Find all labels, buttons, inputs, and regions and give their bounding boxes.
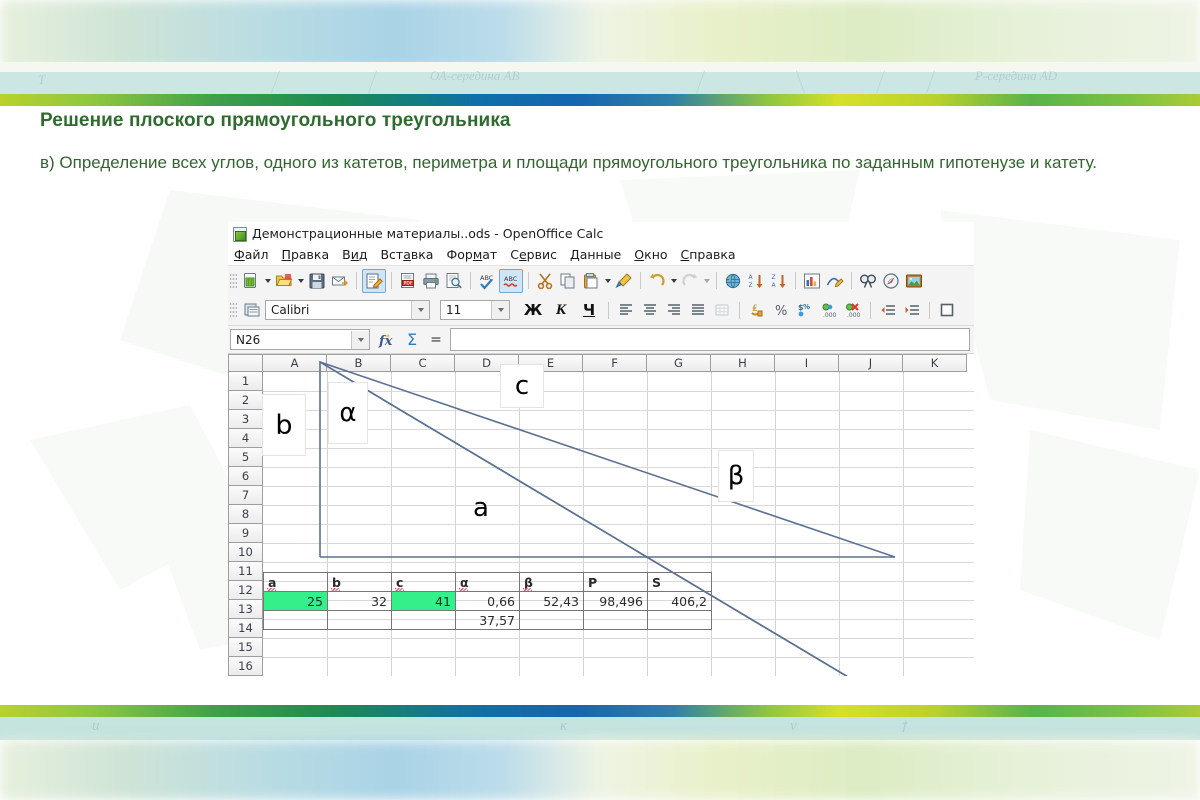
menu-item-insert[interactable]: Вставка [380,247,433,262]
align-left-icon[interactable] [615,299,637,321]
row-header-2[interactable]: 2 [228,391,263,410]
equals-icon[interactable]: = [427,329,445,351]
delete-decimal-icon[interactable]: .000 [842,299,864,321]
grid-hline [263,638,974,639]
top-color-band [0,94,1200,106]
header-c[interactable]: c [392,573,456,592]
angle-alpha-label: α [328,382,368,444]
cell-S-value[interactable]: 406,2 [648,592,712,611]
function-wizard-icon[interactable]: fx [375,329,397,351]
toolbar-grip[interactable] [230,272,237,290]
menu-item-tools[interactable]: Сервис [510,247,557,262]
print-icon[interactable] [420,270,442,292]
paste-icon[interactable] [580,270,602,292]
cell-r15-c[interactable] [392,611,456,630]
font-size-combo[interactable]: 11 [440,300,510,320]
chart-icon[interactable] [801,270,823,292]
column-header-A[interactable]: A [263,354,327,372]
grid-hline [263,448,974,449]
page-title: Решение плоского прямоугольного треуголь… [40,110,511,132]
svg-text:ABC: ABC [504,275,518,283]
spellcheck-icon[interactable]: ABC [476,270,498,292]
bg-scribble-mark-3: ᴋ [560,718,567,735]
row-header-16[interactable]: 16 [228,657,263,676]
svg-text:.000: .000 [823,312,837,318]
calc-menubar: Файл Правка Вид Вставка Формат Сервис Да… [228,244,974,265]
bold-button[interactable]: Ж [520,299,546,321]
cut-icon[interactable] [534,270,556,292]
cell-a-value[interactable]: 25 [264,592,328,611]
spreadsheet-grid[interactable]: ABCDEFGHIJK 12345678910111213141516 b α … [228,354,974,676]
cell-r15-b[interactable] [328,611,392,630]
cell-r15-g[interactable] [648,611,712,630]
cell-r15-a[interactable] [264,611,328,630]
svg-text:A: A [749,274,754,281]
draw-functions-icon[interactable] [824,270,846,292]
table-header-row: a b c α β P S [264,573,712,592]
add-decimal-icon[interactable]: .000 [818,299,840,321]
autospellcheck-icon[interactable]: ABC [499,269,523,293]
row-header-13[interactable]: 13 [228,600,263,619]
row-header-4[interactable]: 4 [228,429,263,448]
menu-item-file[interactable]: Файл [234,247,269,262]
calc-document-icon [231,226,246,241]
formula-input-line[interactable] [450,328,970,351]
decrease-indent-icon[interactable] [877,299,899,321]
svg-text:A: A [772,282,777,289]
svg-text:fx: fx [378,334,393,349]
underline-button[interactable]: Ч [576,299,602,321]
copy-icon[interactable] [557,270,579,292]
bg-scribble-mark-1: Ƭ [38,72,45,88]
hyperlink-icon[interactable] [722,270,744,292]
menu-item-edit[interactable]: Правка [282,247,330,262]
cell-P-value[interactable]: 98,496 [584,592,648,611]
page-subtitle: в) Определение всех углов, одного из кат… [40,150,1150,175]
grid-hline [263,524,974,525]
grid-hline [263,562,974,563]
grid-hline [263,429,974,430]
row-header-8[interactable]: 8 [228,505,263,524]
column-header-F[interactable]: F [583,354,647,372]
svg-text:Z: Z [749,282,753,289]
row-header-15[interactable]: 15 [228,638,263,657]
font-size-dropdown-icon[interactable] [491,301,509,319]
svg-text:%: % [775,304,787,318]
cell-r15-f[interactable] [584,611,648,630]
sort-ascending-icon[interactable]: AZ [745,270,767,292]
cell-beta-value[interactable]: 52,43 [520,592,584,611]
top-gradient-blur [0,0,1200,70]
name-box-dropdown-icon[interactable] [351,331,369,349]
column-header-I[interactable]: I [775,354,839,372]
find-replace-icon[interactable] [857,270,879,292]
menu-item-data[interactable]: Данные [570,247,621,262]
save-icon[interactable] [306,270,328,292]
column-header-C[interactable]: C [391,354,455,372]
cell-c-value[interactable]: 41 [392,592,456,611]
formatting-toolbar-grip[interactable] [230,301,237,319]
italic-button[interactable]: К [548,299,574,321]
table-row: 37,57 [264,611,712,630]
font-name-value: Calibri [271,303,309,317]
undo-dropdown-icon[interactable] [669,270,678,292]
row-header-5[interactable]: 5 [228,448,263,467]
navigator-icon[interactable] [880,270,902,292]
merge-cells-icon[interactable] [711,299,733,321]
menu-item-format[interactable]: Формат [446,247,497,262]
currency-icon[interactable]: ₤ [746,299,768,321]
header-alpha[interactable]: α [456,573,520,592]
redo-icon[interactable] [679,270,701,292]
side-b-label: b [262,394,306,456]
column-header-K[interactable]: K [903,354,967,372]
print-preview-icon[interactable] [443,270,465,292]
row-header-10[interactable]: 10 [228,543,263,562]
svg-text:.000: .000 [847,312,861,318]
borders-icon[interactable] [936,299,958,321]
align-justify-icon[interactable] [687,299,709,321]
row-header-7[interactable]: 7 [228,486,263,505]
header-S[interactable]: S [648,573,712,592]
paste-dropdown-icon[interactable] [603,270,612,292]
redo-dropdown-icon[interactable] [702,270,711,292]
grid-hline [263,467,974,468]
menu-item-window[interactable]: Окно [634,247,667,262]
cell-b-value[interactable]: 32 [328,592,392,611]
open-document-icon[interactable] [273,270,295,292]
svg-text:PDF: PDF [404,280,413,286]
bg-scribble-text-2: P-середина AD [975,68,1057,84]
styles-and-formatting-icon[interactable] [241,299,263,321]
new-document-dropdown-icon[interactable] [263,270,272,292]
align-right-icon[interactable] [663,299,685,321]
grid-hline [263,543,974,544]
grid-hline [263,410,974,411]
font-name-combo[interactable]: Calibri [265,300,430,320]
formula-bar: N26 fx Σ = [228,326,974,354]
bottom-gradient-blur [0,740,1200,800]
openoffice-calc-window: Демонстрационные материалы..ods - OpenOf… [228,222,974,695]
open-document-dropdown-icon[interactable] [296,270,305,292]
header-beta[interactable]: β [520,573,584,592]
column-header-H[interactable]: H [711,354,775,372]
side-c-label: c [500,364,544,408]
increase-indent-icon[interactable] [901,299,923,321]
row-header-12[interactable]: 12 [228,581,263,600]
table-row: 25 32 41 0,66 52,43 98,496 406,2 [264,592,712,611]
row-header-9[interactable]: 9 [228,524,263,543]
grid-hline [263,505,974,506]
bg-scribble-mark-5: ꝉ [900,718,906,737]
email-document-icon[interactable] [329,270,351,292]
results-table[interactable]: a b c α β P S 25 32 41 0,66 52,43 98,496… [263,572,712,630]
menu-item-help[interactable]: Справка [681,247,736,262]
new-document-icon[interactable] [240,270,262,292]
column-header-B[interactable]: B [327,354,391,372]
svg-text:%: % [803,303,810,311]
bg-scribble-text-1: ОА-середина АВ [430,68,520,84]
row-header-3[interactable]: 3 [228,410,263,429]
column-header-J[interactable]: J [839,354,903,372]
cell-r15-e[interactable] [520,611,584,630]
sum-icon[interactable]: Σ [402,329,422,351]
percent-icon[interactable]: % [770,299,792,321]
bottom-color-band [0,705,1200,717]
svg-text:Z: Z [772,274,776,281]
header-P[interactable]: P [584,573,648,592]
gallery-icon[interactable] [903,270,925,292]
header-a[interactable]: a [264,573,328,592]
sort-descending-icon[interactable]: ZA [768,270,790,292]
name-box[interactable]: N26 [230,329,370,350]
row-header-6[interactable]: 6 [228,467,263,486]
clone-formatting-icon[interactable] [613,270,635,292]
number-format-icon[interactable]: $% [794,299,816,321]
bg-scribble-mark-4: ᴠ [790,718,796,735]
row-header-11[interactable]: 11 [228,562,263,581]
grid-hline [263,391,974,392]
export-pdf-icon[interactable]: PDF [397,270,419,292]
menu-item-view[interactable]: Вид [342,247,367,262]
svg-text:₤: ₤ [752,304,758,314]
column-header-G[interactable]: G [647,354,711,372]
bg-scribble-mark-2: ᴎ [92,718,100,735]
bottom-teal-strip [0,717,1200,740]
standard-toolbar: PDF ABC ABC [228,266,974,295]
align-center-icon[interactable] [639,299,661,321]
header-b[interactable]: b [328,573,392,592]
grid-hline [263,486,974,487]
cell-alpha-value[interactable]: 0,66 [456,592,520,611]
edit-file-icon[interactable] [362,269,386,293]
formatting-toolbar: Calibri 11 Ж К Ч ₤ % [228,295,974,325]
calc-title-text: Демонстрационные материалы..ods - OpenOf… [252,226,603,241]
font-name-dropdown-icon[interactable] [411,301,429,319]
font-size-value: 11 [446,303,461,317]
side-a-label: a [450,490,512,526]
row-header-14[interactable]: 14 [228,619,263,638]
calc-titlebar: Демонстрационные материалы..ods - OpenOf… [228,222,974,244]
row-header-1[interactable]: 1 [228,372,263,391]
cell-alpha-degrees[interactable]: 37,57 [456,611,520,630]
undo-icon[interactable] [646,270,668,292]
grid-hline [263,657,974,658]
name-box-value: N26 [236,333,260,347]
angle-beta-label: β [718,450,754,502]
select-all-corner[interactable] [228,354,263,372]
